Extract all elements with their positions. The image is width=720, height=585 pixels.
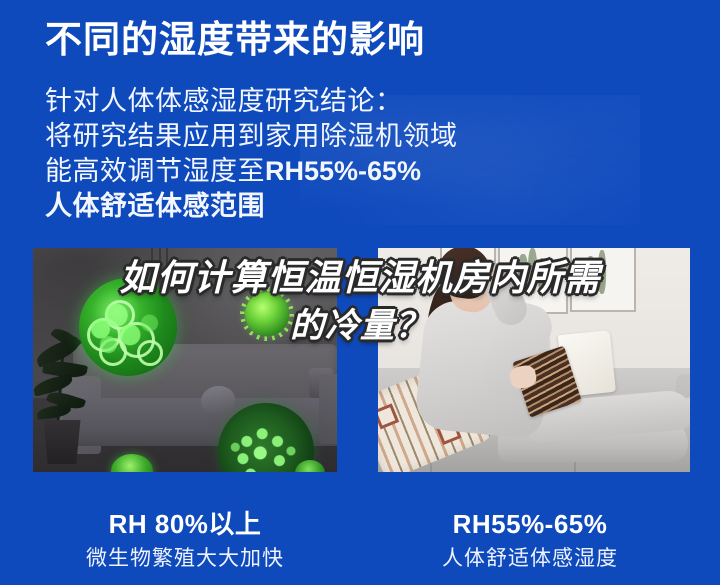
intro-line-1: 针对人体体感湿度研究结论： xyxy=(45,84,458,119)
microbe-cluster-large xyxy=(79,278,177,376)
plant-pot xyxy=(41,420,83,464)
microbe-cell xyxy=(87,318,121,352)
microbe-cell xyxy=(99,338,127,366)
caption-high-humidity-value: RH 80%以上 xyxy=(30,508,340,540)
intro-line-4: 人体舒适体感范围 xyxy=(45,189,458,224)
intro-line-3: 能高效调节湿度至RH55%-65% xyxy=(45,154,458,189)
humidity-infographic-poster: 不同的湿度带来的影响 针对人体体感湿度研究结论： 将研究结果应用到家用除湿机领域… xyxy=(0,0,720,585)
page-title: 不同的湿度带来的影响 xyxy=(45,16,425,64)
caption-comfort-humidity: RH55%-65% 人体舒适体感湿度 xyxy=(375,508,685,572)
wall-art-plant xyxy=(538,258,546,292)
dark-sofa-arm-right xyxy=(319,374,337,444)
caption-high-humidity-desc: 微生物繁殖大大加快 xyxy=(30,546,340,572)
humidity-range-value: RH55%-65% xyxy=(265,156,421,186)
wall-art-plant xyxy=(586,256,595,294)
microbe-cell xyxy=(105,300,135,330)
intro-text-block: 针对人体体感湿度研究结论： 将研究结果应用到家用除湿机领域 能高效调节湿度至RH… xyxy=(45,84,458,224)
intro-line-3-prefix: 能高效调节湿度至 xyxy=(45,156,265,186)
wall-art-plant xyxy=(598,250,606,294)
microbe-cell xyxy=(119,322,155,358)
caption-high-humidity: RH 80%以上 微生物繁殖大大加快 xyxy=(30,508,340,572)
photo-panel-high-humidity xyxy=(33,248,337,472)
microbe-cell xyxy=(137,340,163,366)
caption-comfort-humidity-desc: 人体舒适体感湿度 xyxy=(375,546,685,572)
intro-line-2: 将研究结果应用到家用除湿机领域 xyxy=(45,119,458,154)
wall-art-plant xyxy=(528,248,537,294)
pillow-motif xyxy=(378,403,399,429)
microbe-virus-spiky xyxy=(245,292,289,336)
pendant-lamp-cord xyxy=(166,248,168,282)
photo-panel-comfort-humidity xyxy=(378,248,690,472)
caption-comfort-humidity-value: RH55%-65% xyxy=(375,508,685,540)
